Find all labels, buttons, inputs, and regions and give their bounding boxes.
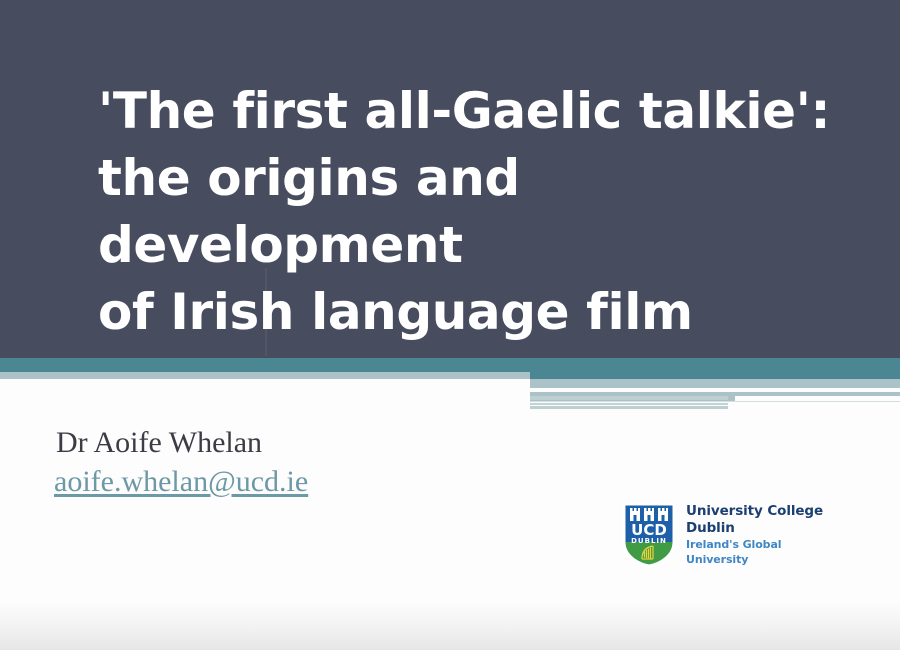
presentation-slide: 'The first all-Gaelic talkie': the origi… [0, 0, 900, 650]
author-email-link[interactable]: aoife.whelan@ucd.ie [54, 463, 308, 501]
decorative-thin-stripe-2 [530, 403, 728, 405]
ucd-logo: UCD DUBLIN University College Dublin Ire… [622, 500, 834, 570]
teal-divider-band [0, 358, 900, 372]
ucd-shield-icon: UCD DUBLIN [622, 502, 676, 568]
decorative-stripe-1 [530, 379, 900, 388]
title-banner: 'The first all-Gaelic talkie': the origi… [0, 0, 900, 358]
light-blue-band-left [0, 372, 530, 379]
teal-band-right-extension [530, 372, 900, 379]
ucd-logo-text: University College Dublin Ireland's Glob… [686, 503, 834, 567]
ucd-university-name: University College Dublin [686, 503, 834, 537]
svg-text:DUBLIN: DUBLIN [631, 537, 667, 545]
author-name: Dr Aoife Whelan [56, 424, 262, 462]
bottom-gradient [0, 600, 900, 650]
ucd-tagline: Ireland's Global University [686, 537, 834, 567]
decorative-hairline [530, 401, 900, 402]
slide-title: 'The first all-Gaelic talkie': the origi… [98, 78, 868, 346]
decorative-thin-stripe-3 [530, 406, 728, 409]
decorative-thin-stripe-1 [530, 396, 728, 400]
